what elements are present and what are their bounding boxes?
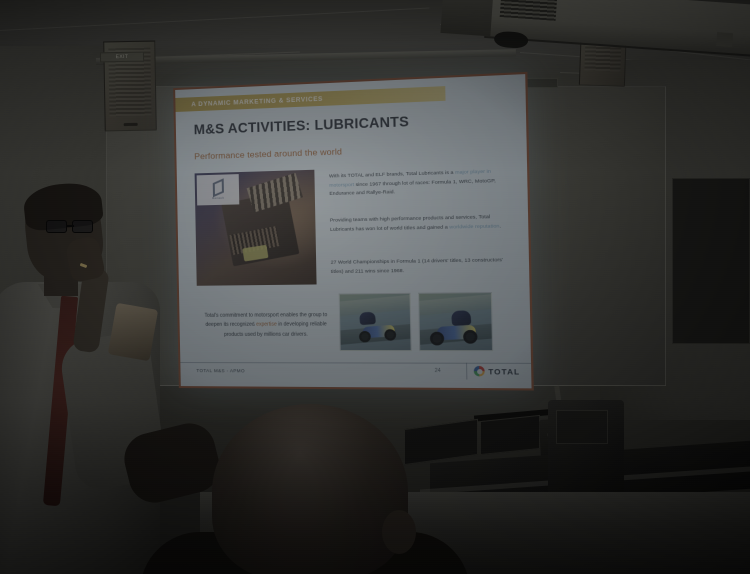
slide-subtitle: Performance tested around the world bbox=[194, 146, 342, 161]
paragraph-3-pre: 27 World Championships in Formula 1 (14 … bbox=[331, 258, 503, 275]
lectern-screen[interactable] bbox=[556, 410, 608, 444]
rider-shape bbox=[451, 310, 471, 326]
laptop-right[interactable] bbox=[480, 415, 540, 455]
paragraph-2-highlight: worldwide reputation bbox=[449, 224, 499, 230]
conference-room-scene: EXIT A DYNAMIC MARKETING & SERVICES M&S … bbox=[0, 0, 750, 574]
presenter-held-object bbox=[108, 303, 158, 362]
projector-rear-housing bbox=[440, 0, 493, 36]
paragraph-2-post: . bbox=[499, 224, 501, 229]
bike-wheel-shape bbox=[430, 331, 445, 345]
slide-paragraph-3: 27 World Championships in Formula 1 (14 … bbox=[331, 257, 516, 277]
exit-sign: EXIT bbox=[100, 52, 144, 63]
slide-banner-label: A DYNAMIC MARKETING & SERVICES bbox=[175, 95, 323, 108]
slide-paragraph-1: With its TOTAL and ELF brands, Total Lub… bbox=[329, 168, 514, 200]
attendee-ear bbox=[382, 510, 416, 554]
slide-page-number: 24 bbox=[435, 368, 441, 374]
slide-caption-text: Total's commitment to motorsport enables… bbox=[197, 311, 335, 340]
paragraph-1-post: since 1967 through lot of races: Formula… bbox=[329, 179, 495, 198]
total-logo-label: TOTAL bbox=[488, 366, 520, 376]
presenter-standing bbox=[0, 186, 182, 574]
slide-banner: A DYNAMIC MARKETING & SERVICES bbox=[175, 86, 445, 112]
renault-diamond-icon bbox=[212, 178, 223, 197]
total-logo: TOTAL bbox=[466, 363, 520, 380]
footer-left-label: TOTAL M&S - APMO bbox=[196, 368, 245, 373]
slide-title: M&S ACTIVITIES: LUBRICANTS bbox=[194, 114, 410, 138]
glasses-lens bbox=[72, 220, 93, 233]
glasses-lens bbox=[46, 220, 67, 233]
motogp-bike-front-photo bbox=[339, 293, 412, 351]
ceiling-tile-line bbox=[0, 7, 429, 31]
slide-paragraph-2: Providing teams with high performance pr… bbox=[330, 213, 515, 235]
attendee-head bbox=[212, 404, 408, 574]
rider-shape bbox=[359, 312, 376, 326]
glasses-bridge bbox=[66, 225, 74, 227]
slide-caption-box: Total's commitment to motorsport enables… bbox=[197, 294, 336, 358]
paragraph-1-pre: With its TOTAL and ELF brands, Total Lub… bbox=[329, 171, 455, 180]
motogp-bike-corner-photo bbox=[418, 292, 493, 351]
projector-vent bbox=[500, 0, 557, 21]
projector-mount bbox=[716, 32, 733, 47]
presentation-slide: A DYNAMIC MARKETING & SERVICES M&S ACTIV… bbox=[175, 74, 531, 388]
track-band bbox=[339, 295, 412, 317]
presenter-glasses bbox=[46, 220, 98, 234]
caption-highlight: expertise bbox=[256, 322, 277, 328]
attendee-seated bbox=[186, 404, 466, 574]
lectern-console bbox=[548, 400, 624, 496]
bike-wheel-shape bbox=[463, 330, 478, 344]
renault-logo-icon: Renault bbox=[197, 174, 240, 205]
speaker-badge bbox=[124, 123, 138, 126]
total-mark-icon bbox=[474, 366, 485, 377]
projection-screen: A DYNAMIC MARKETING & SERVICES M&S ACTIV… bbox=[173, 72, 534, 391]
formula-engine-photo: Renault bbox=[195, 170, 317, 286]
wall-dark-board bbox=[672, 178, 750, 344]
